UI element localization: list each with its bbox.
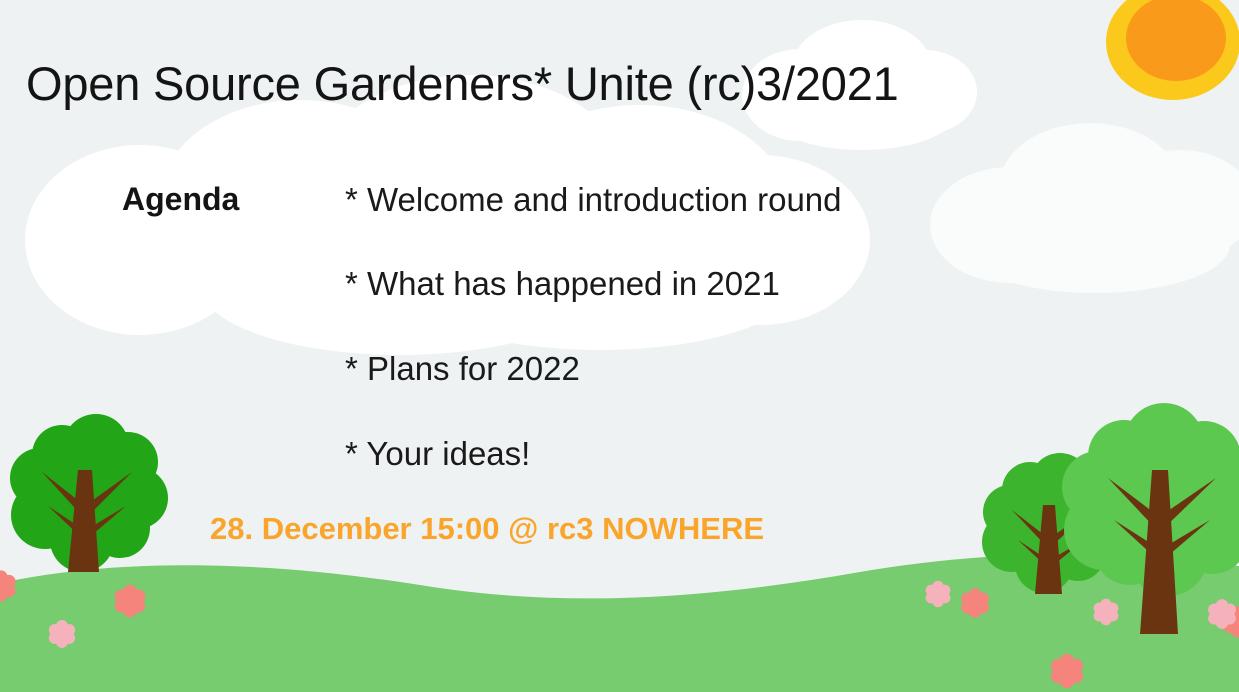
event-datetime-location: 28. December 15:00 @ rc3 NOWHERE (210, 511, 764, 547)
presentation-slide: Open Source Gardeners* Unite (rc)3/2021 … (0, 0, 1239, 692)
agenda-item: * Plans for 2022 (345, 350, 580, 388)
agenda-item: * Your ideas! (345, 435, 530, 473)
agenda-item: * Welcome and introduction round (345, 181, 842, 219)
page-title: Open Source Gardeners* Unite (rc)3/2021 (26, 58, 899, 110)
agenda-label: Agenda (122, 181, 239, 218)
agenda-item: * What has happened in 2021 (345, 265, 780, 303)
